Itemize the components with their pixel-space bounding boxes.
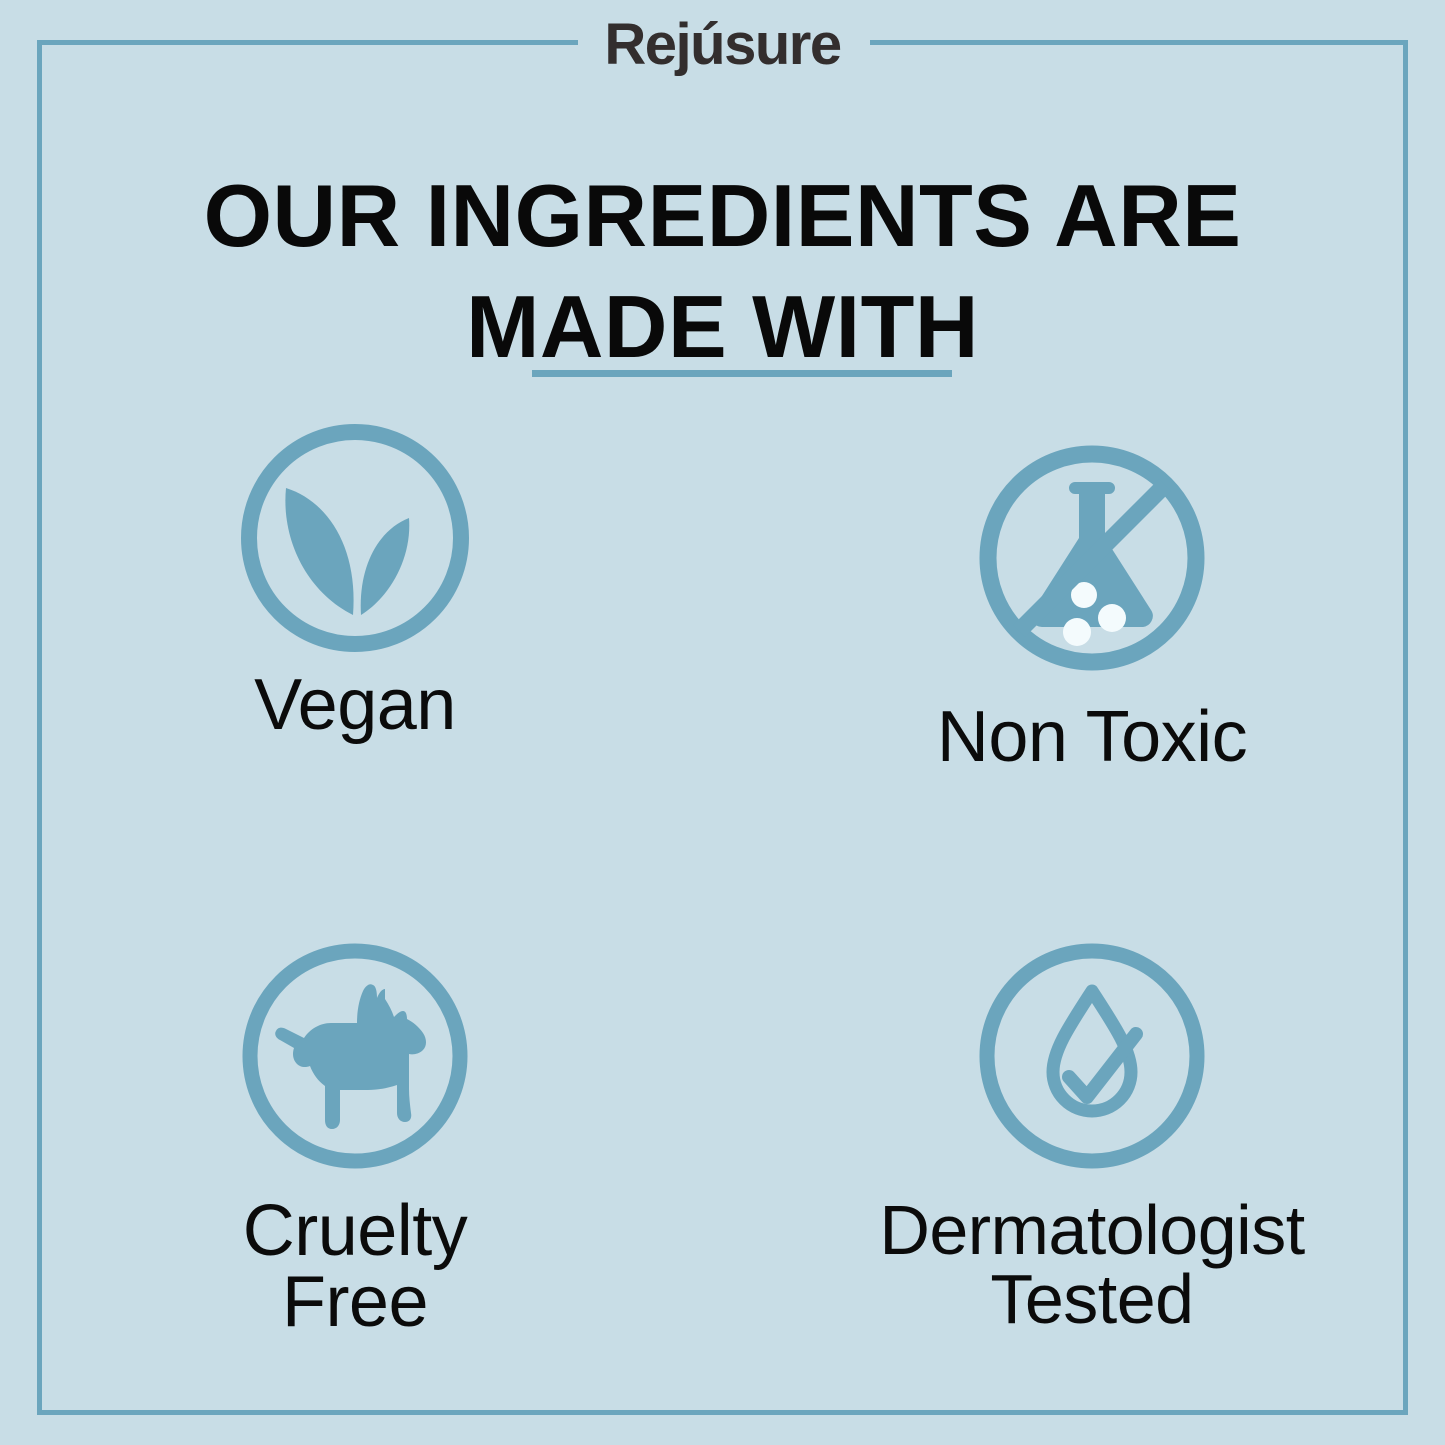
badge-dermatologist-tested-label: Dermatologist Tested	[857, 1196, 1327, 1333]
brand-logo: Rejúsure	[0, 16, 1445, 74]
droplet-check-circle-icon	[974, 938, 1210, 1174]
page-title-line-2: MADE WITH	[0, 283, 1445, 371]
no-chemicals-flask-icon	[974, 440, 1210, 676]
badge-non-toxic-label: Non Toxic	[857, 702, 1327, 773]
dog-circle-icon	[237, 938, 473, 1174]
badge-cruelty-free-label: Cruelty Free	[120, 1196, 590, 1337]
promo-graphic: Rejúsure OUR INGREDIENTS ARE MADE WITH V…	[0, 0, 1445, 1445]
badge-dermatologist-tested: Dermatologist Tested	[857, 938, 1327, 1333]
badge-vegan-label: Vegan	[120, 670, 590, 741]
badge-non-toxic: Non Toxic	[857, 440, 1327, 773]
title-underline-rule	[532, 370, 952, 377]
badge-vegan: Vegan	[120, 420, 590, 741]
page-title-line-1: OUR INGREDIENTS ARE	[0, 172, 1445, 260]
leaf-circle-icon	[237, 420, 473, 656]
badge-cruelty-free: Cruelty Free	[120, 938, 590, 1337]
frame-border-bottom	[37, 1410, 1408, 1415]
